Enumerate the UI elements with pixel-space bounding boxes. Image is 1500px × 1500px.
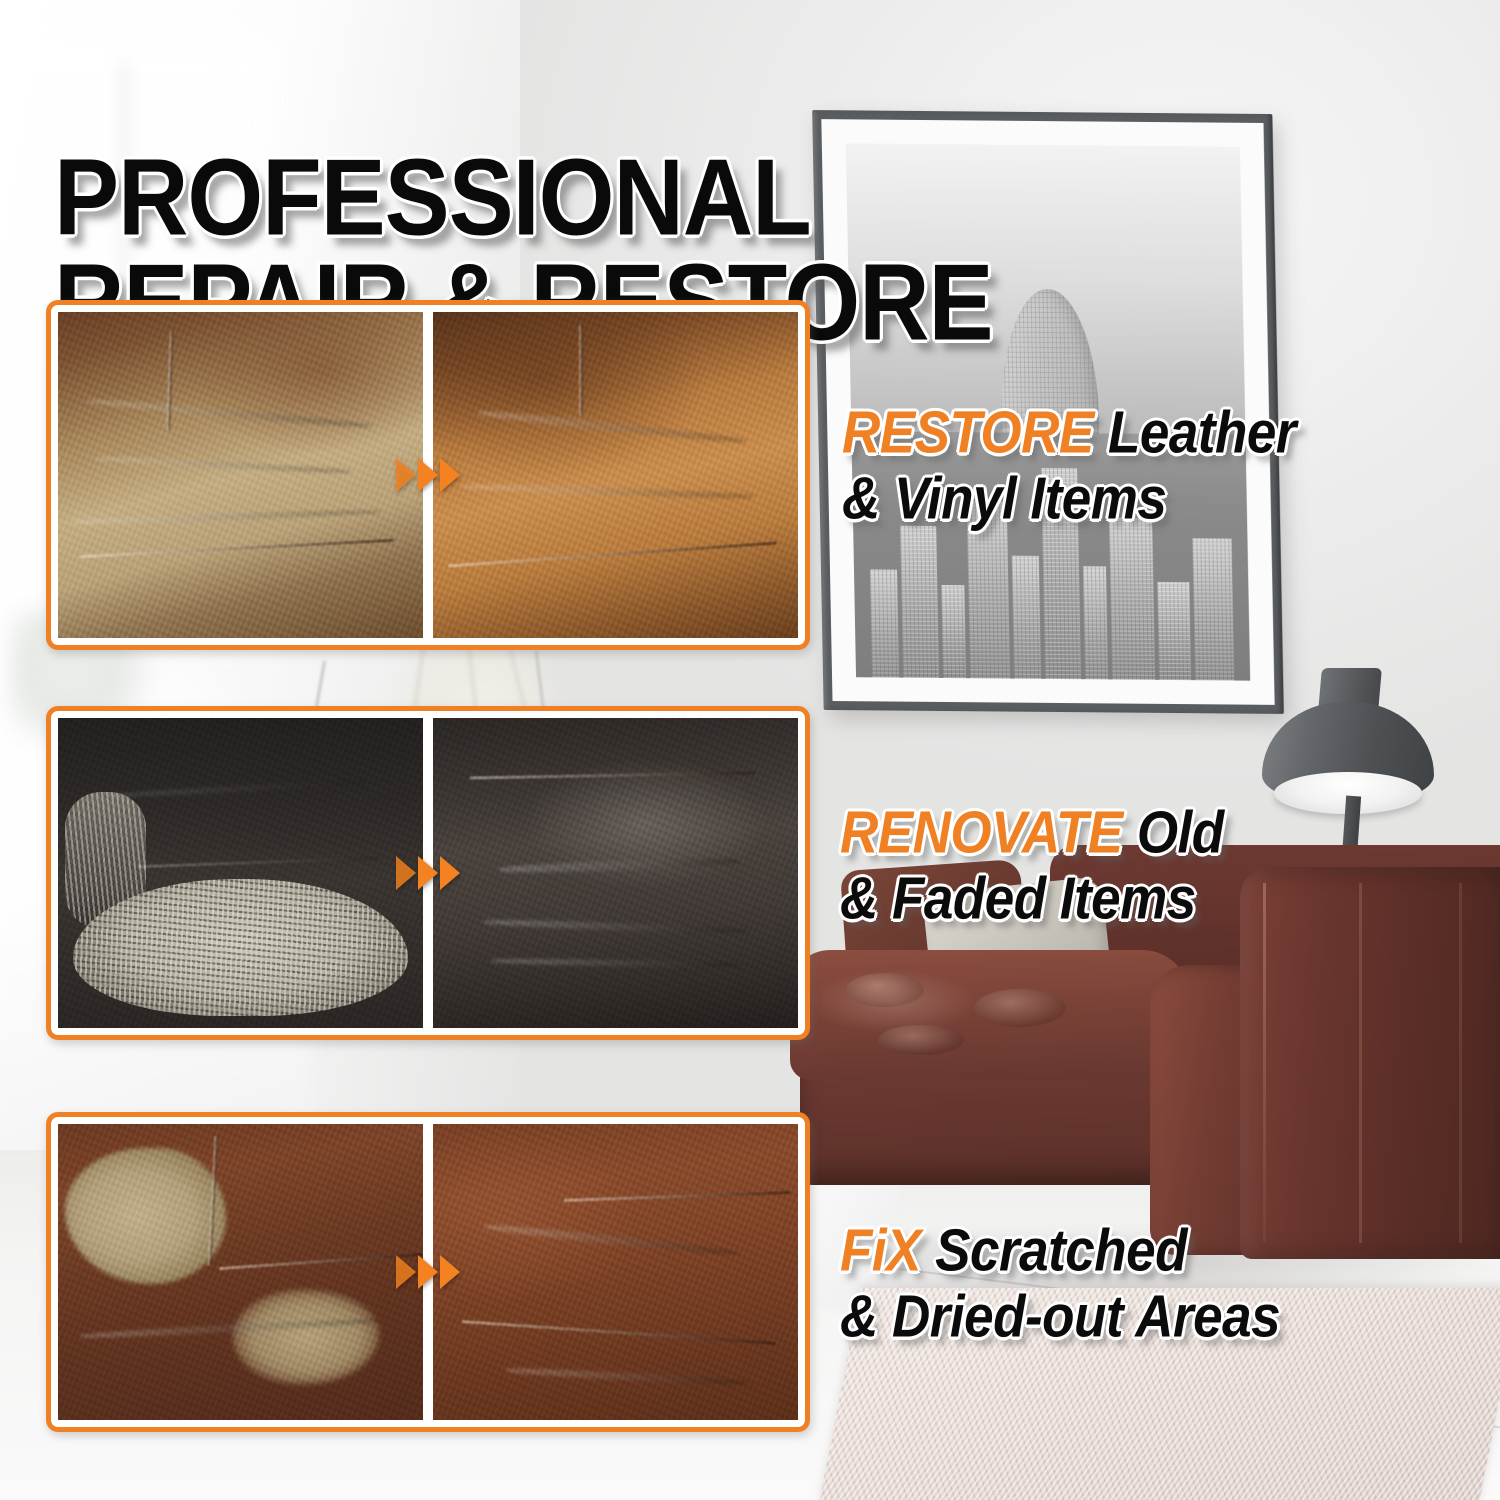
- feature-renovate-highlight: RENOVATE: [840, 800, 1123, 866]
- feature-renovate-rest: Old: [1123, 800, 1224, 866]
- feature-renovate: RENOVATE Old & Faded Items: [840, 800, 1224, 933]
- after-image-2: [433, 718, 798, 1028]
- chevron-right-icon: [440, 856, 460, 890]
- before-image-2: [58, 718, 423, 1028]
- chevron-right-icon: [418, 458, 438, 492]
- chevron-right-icon: [418, 856, 438, 890]
- headline-line-1: PROFESSIONAL: [54, 138, 811, 258]
- ad-creative: PROFESSIONAL REPAIR & RESTORE: [0, 0, 1500, 1500]
- chevron-right-icon: [396, 856, 416, 890]
- chevron-right-icon: [440, 1255, 460, 1289]
- feature-fix-line2: & Dried-out Areas: [840, 1284, 1280, 1350]
- after-image-1: [433, 312, 798, 638]
- feature-restore-line2: & Vinyl Items: [842, 466, 1296, 532]
- comparison-panel-1: [46, 300, 810, 650]
- chevron-right-icon: [396, 1255, 416, 1289]
- transform-arrow-1: [396, 458, 460, 492]
- feature-fix-rest: Scratched: [921, 1218, 1187, 1284]
- desk-lamp: [1258, 668, 1438, 853]
- transform-arrow-2: [396, 856, 460, 890]
- comparison-panel-3: [46, 1112, 810, 1432]
- before-image-1: [58, 312, 423, 638]
- transform-arrow-3: [396, 1255, 460, 1289]
- feature-restore: RESTORE Leather & Vinyl Items: [842, 400, 1296, 533]
- feature-fix: FiX Scratched & Dried-out Areas: [840, 1218, 1280, 1351]
- comparison-panel-2: [46, 706, 810, 1040]
- feature-restore-highlight: RESTORE: [842, 400, 1094, 466]
- feature-restore-rest: Leather: [1094, 400, 1296, 466]
- before-image-3: [58, 1124, 423, 1420]
- sofa-cushion: [790, 950, 1190, 1080]
- after-image-3: [433, 1124, 798, 1420]
- sofa-side-panel: [1240, 867, 1500, 1259]
- chevron-right-icon: [440, 458, 460, 492]
- chevron-right-icon: [418, 1255, 438, 1289]
- feature-fix-highlight: FiX: [840, 1218, 921, 1284]
- feature-renovate-line2: & Faded Items: [840, 866, 1224, 932]
- chevron-right-icon: [396, 458, 416, 492]
